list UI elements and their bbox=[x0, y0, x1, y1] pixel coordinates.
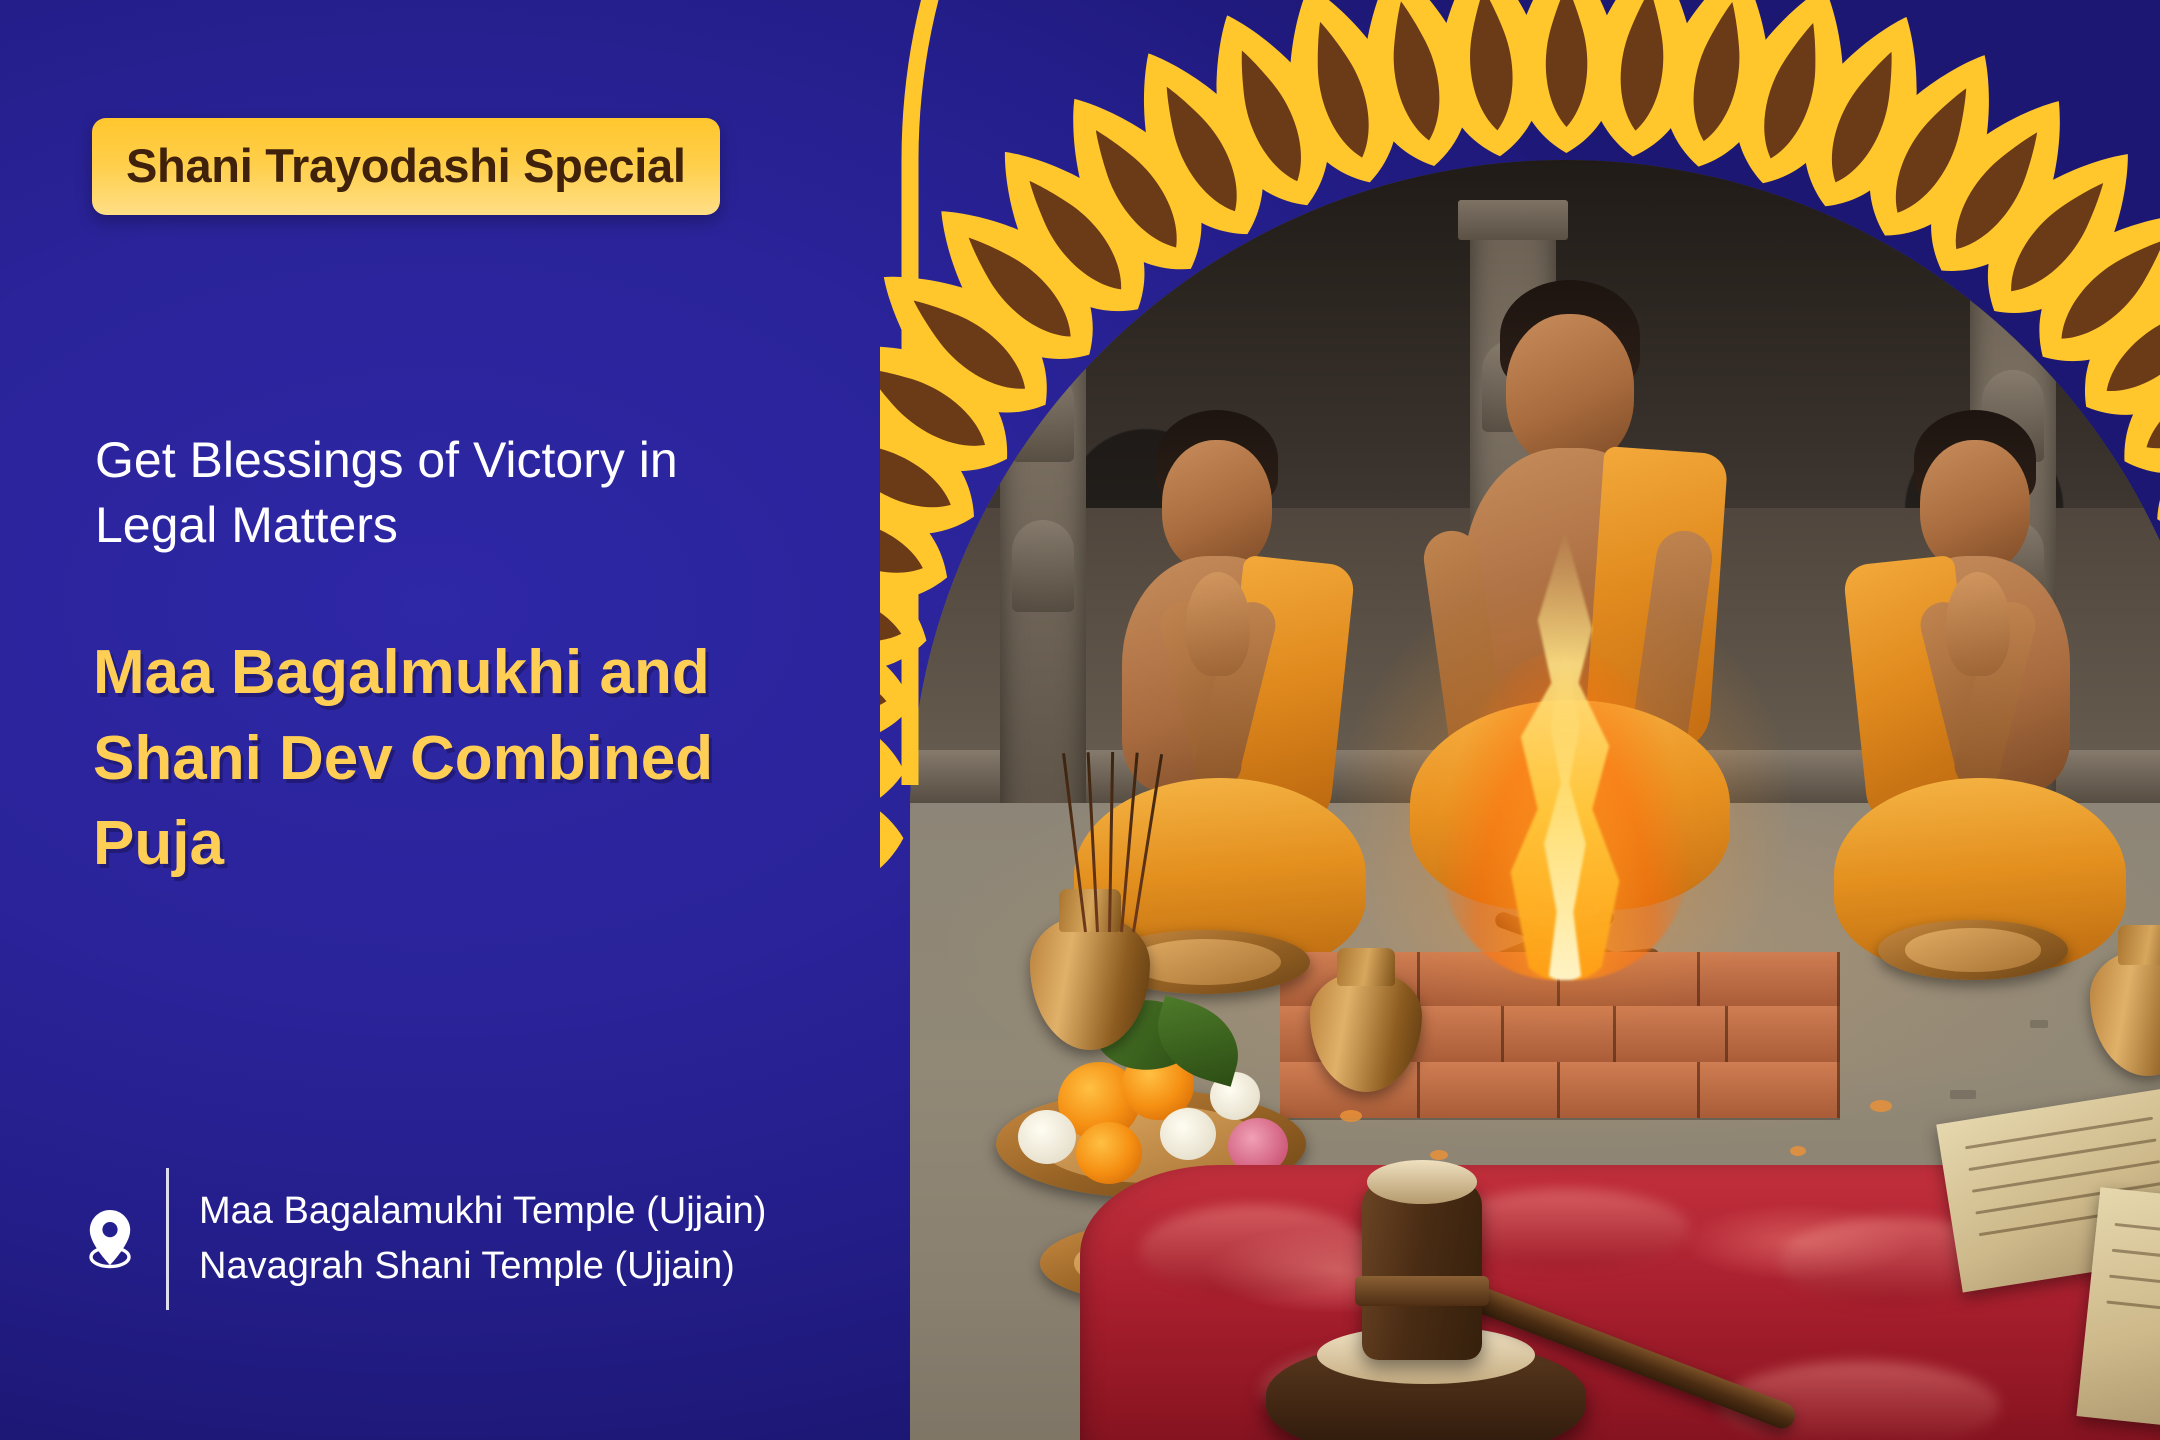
subtitle: Get Blessings of Victory in Legal Matter… bbox=[95, 428, 855, 558]
promotional-banner: Shani Trayodashi Special Get Blessings o… bbox=[0, 0, 2160, 1440]
subtitle-line-2: Legal Matters bbox=[95, 497, 398, 553]
puja-thali bbox=[1878, 920, 2068, 980]
headline-line-2: Shani Dev Combined bbox=[93, 716, 923, 802]
location-venues: Maa Bagalamukhi Temple (Ujjain) Navagrah… bbox=[199, 1184, 766, 1294]
promo-badge: Shani Trayodashi Special bbox=[92, 118, 720, 215]
text-column: Shani Trayodashi Special Get Blessings o… bbox=[0, 0, 900, 1440]
location-divider bbox=[166, 1168, 169, 1310]
subtitle-line-1: Get Blessings of Victory in bbox=[95, 432, 678, 488]
marigold-flower bbox=[1076, 1122, 1142, 1184]
ritual-artwork bbox=[880, 0, 2160, 1440]
gavel-head bbox=[1362, 1180, 1482, 1360]
location-pin-icon bbox=[84, 1208, 136, 1270]
venue-2: Navagrah Shani Temple (Ujjain) bbox=[199, 1239, 766, 1294]
white-flower bbox=[1160, 1108, 1216, 1160]
promo-badge-label: Shani Trayodashi Special bbox=[126, 138, 686, 193]
headline-line-1: Maa Bagalmukhi and bbox=[93, 630, 923, 716]
havan-flame bbox=[1430, 460, 1700, 980]
headline-line-3: Puja bbox=[93, 801, 923, 887]
page-title: Maa Bagalmukhi and Shani Dev Combined Pu… bbox=[93, 630, 923, 887]
white-flower bbox=[1018, 1110, 1076, 1164]
location-block: Maa Bagalamukhi Temple (Ujjain) Navagrah… bbox=[84, 1168, 766, 1310]
incense-bundle bbox=[1074, 752, 1144, 932]
photo-mask bbox=[910, 160, 2160, 1440]
venue-1: Maa Bagalamukhi Temple (Ujjain) bbox=[199, 1184, 766, 1239]
